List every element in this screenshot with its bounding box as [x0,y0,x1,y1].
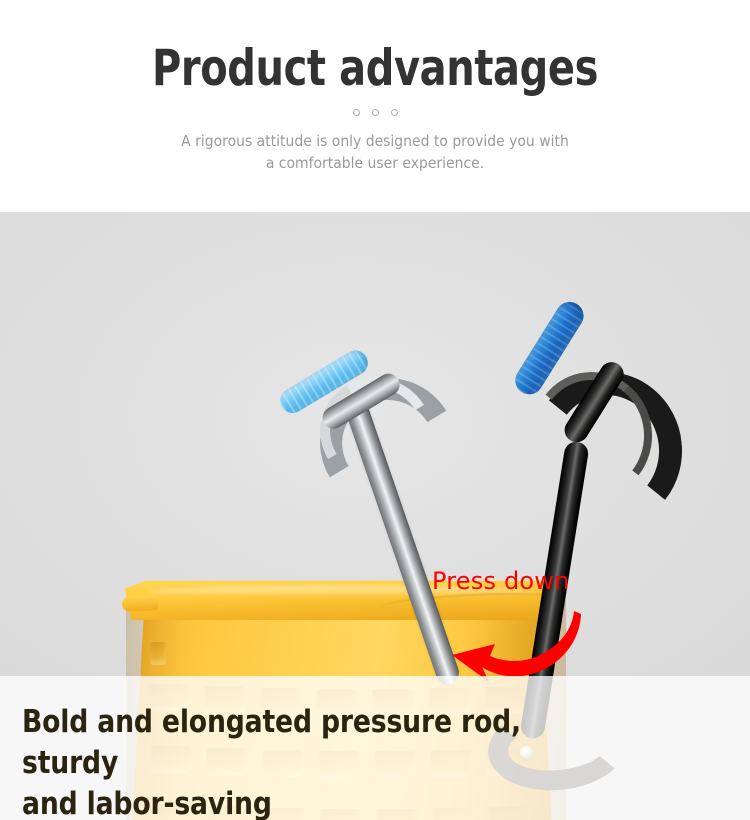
bucket-handle-ear [122,595,159,612]
separator-dot-3 [391,109,398,116]
press-down-label: Press down [432,567,570,595]
subtitle-line-1: A rigorous attitude is only designed to … [164,130,587,152]
header-section: Product advantages A rigorous attitude i… [0,0,750,212]
caption-overlay: Bold and elongated pressure rod, sturdy … [0,676,750,820]
caption-line-1: Bold and elongated pressure rod, sturdy [22,704,521,781]
product-advantages-page: Product advantages A rigorous attitude i… [0,0,750,820]
dot-separator [340,106,410,118]
separator-dot-2 [372,109,379,116]
page-subtitle: A rigorous attitude is only designed to … [164,130,587,175]
page-title: Product advantages [75,0,675,96]
bucket-slot [150,642,166,664]
subtitle-line-2: a comfortable user experience. [164,152,587,174]
caption-line-2: and labor-saving [22,786,272,820]
caption-text: Bold and elongated pressure rod, sturdy … [22,702,624,820]
separator-dot-1 [353,109,360,116]
